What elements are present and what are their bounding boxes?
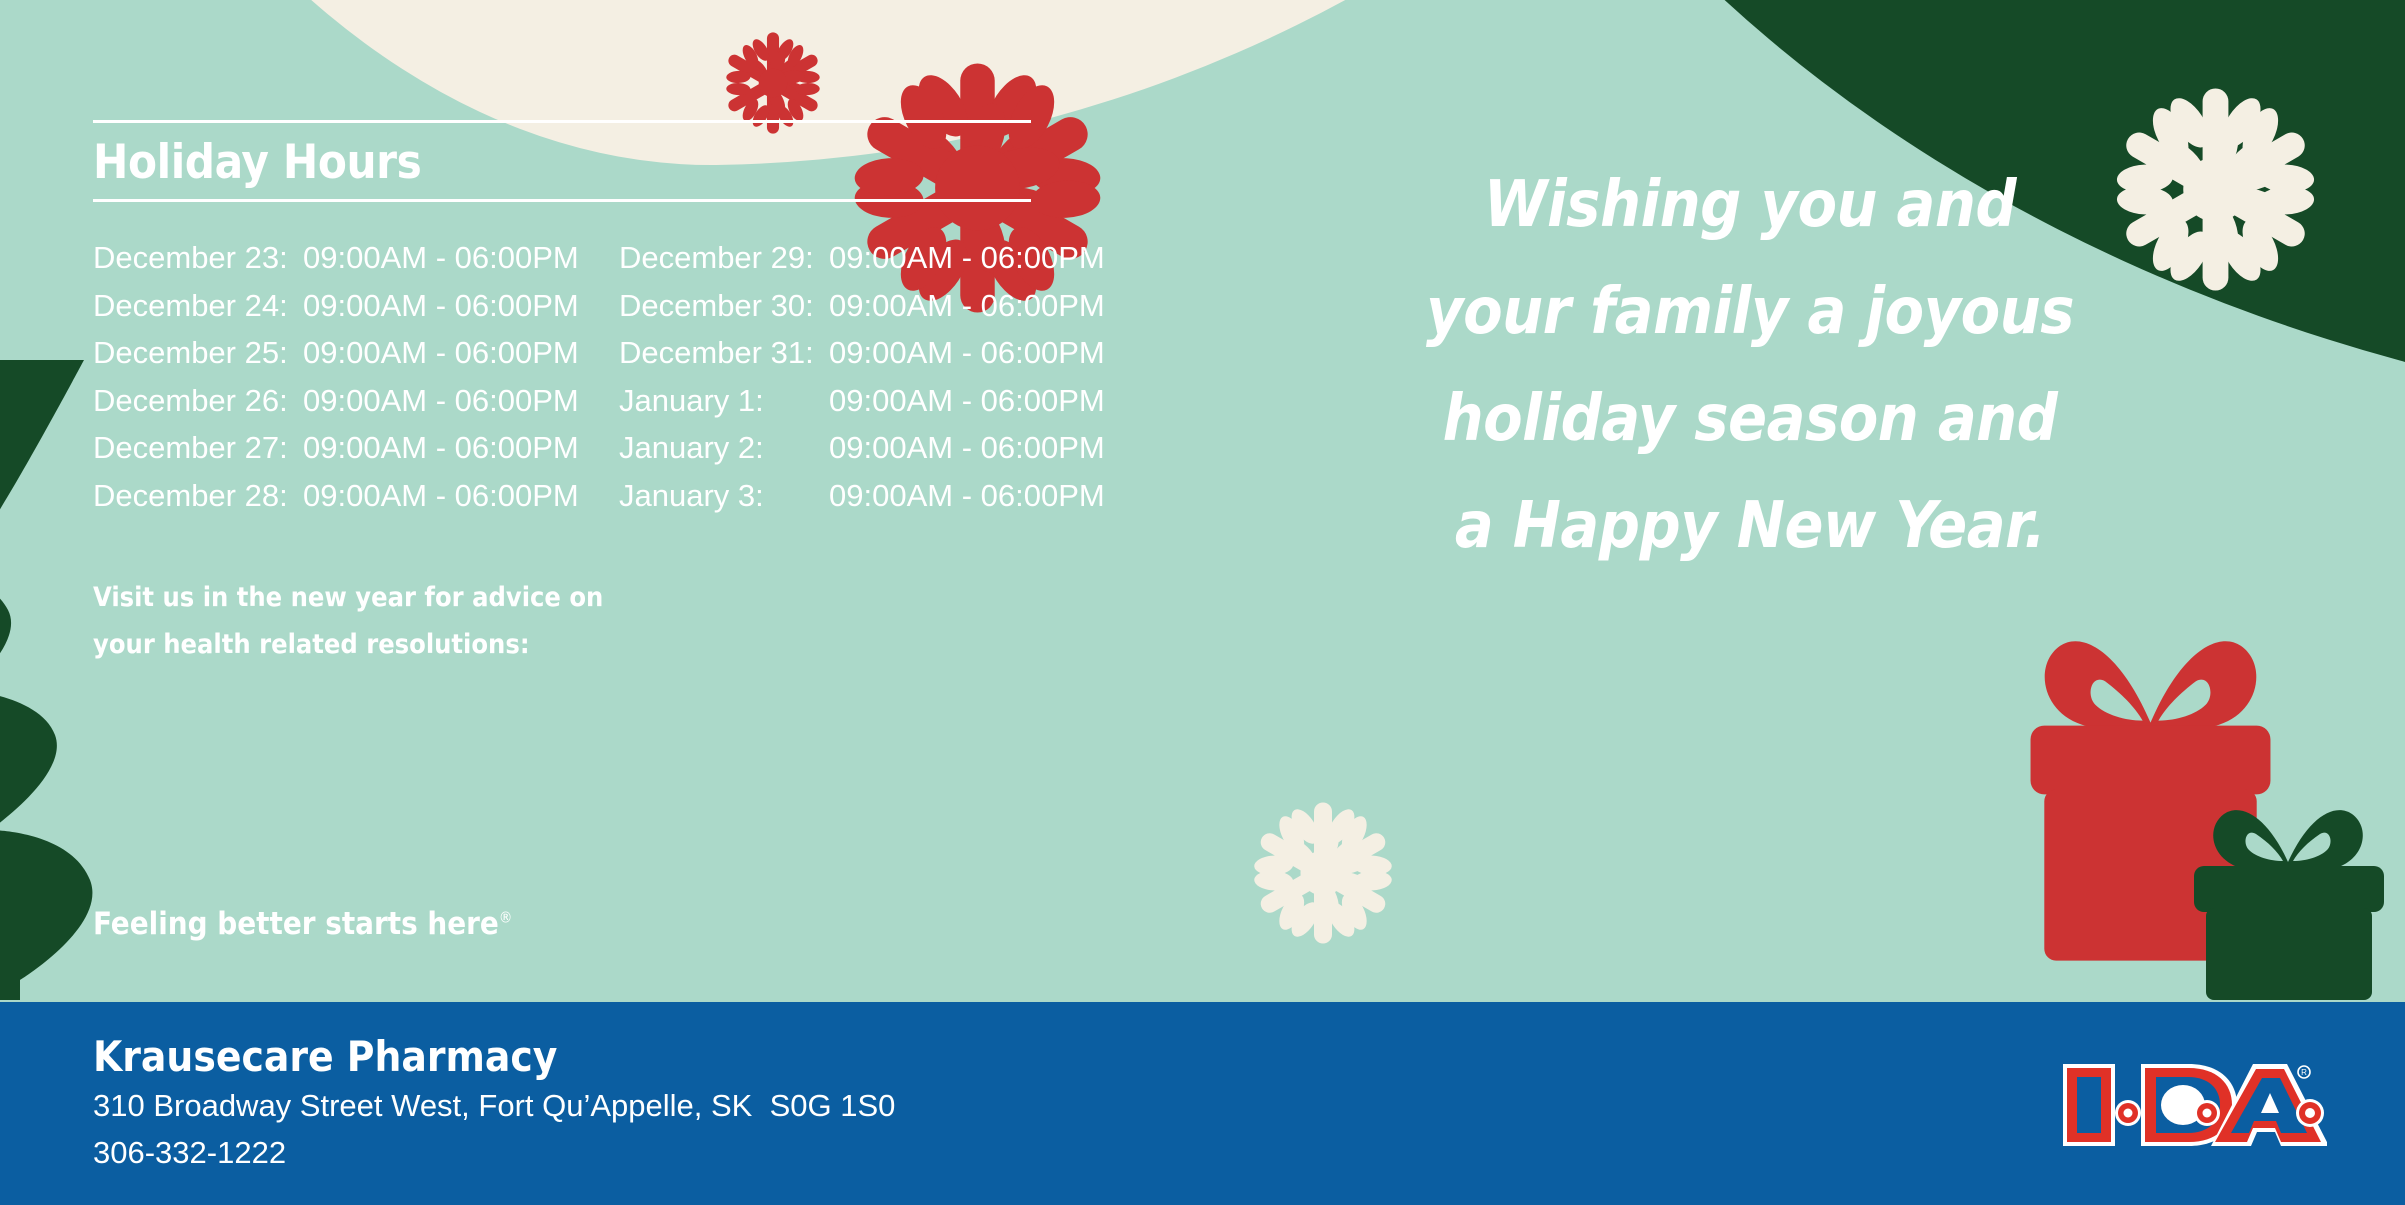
ida-logo: R <box>2057 1050 2327 1160</box>
greeting-message: Wishing you and your family a joyous hol… <box>1390 152 2110 580</box>
tagline-text: Feeling better starts here <box>93 906 499 942</box>
footer-bar: Krausecare Pharmacy 310 Broadway Street … <box>0 1002 2405 1205</box>
hours-row: December 30: 09:00AM - 06:00PM <box>619 282 1107 330</box>
greeting-line2: your family a joyous <box>1390 259 2110 366</box>
hours-day: December 27: <box>93 424 303 472</box>
tagline: Feeling better starts here® <box>93 906 512 942</box>
hours-day: December 26: <box>93 377 303 425</box>
hours-time: 09:00AM - 06:00PM <box>303 234 581 282</box>
hours-row: December 24: 09:00AM - 06:00PM <box>93 282 581 330</box>
hours-row: December 31: 09:00AM - 06:00PM <box>619 329 1107 377</box>
visit-note-line1: Visit us in the new year for advice on <box>93 574 733 621</box>
holiday-hours-block: Holiday Hours December 23: 09:00AM - 06:… <box>93 120 1193 519</box>
visit-note: Visit us in the new year for advice on y… <box>93 574 733 668</box>
hours-time: 09:00AM - 06:00PM <box>829 282 1107 330</box>
holiday-hours-banner: Holiday Hours December 23: 09:00AM - 06:… <box>0 0 2405 1205</box>
store-info: Krausecare Pharmacy 310 Broadway Street … <box>93 1032 895 1176</box>
store-name: Krausecare Pharmacy <box>93 1032 895 1082</box>
greeting-line4: a Happy New Year. <box>1390 473 2110 580</box>
svg-text:R: R <box>2301 1068 2307 1077</box>
hours-day: December 29: <box>619 234 829 282</box>
hours-day: December 25: <box>93 329 303 377</box>
hours-day: January 3: <box>619 472 829 520</box>
hours-day: December 24: <box>93 282 303 330</box>
hours-column-two: December 29: 09:00AM - 06:00PM December … <box>619 234 1107 519</box>
greeting-line3: holiday season and <box>1390 366 2110 473</box>
hours-row: December 25: 09:00AM - 06:00PM <box>93 329 581 377</box>
hours-row: December 23: 09:00AM - 06:00PM <box>93 234 581 282</box>
snowflake-icon <box>2108 82 2323 297</box>
hours-day: December 30: <box>619 282 829 330</box>
hours-time: 09:00AM - 06:00PM <box>303 424 581 472</box>
hours-row: January 2: 09:00AM - 06:00PM <box>619 424 1107 472</box>
greeting-line1: Wishing you and <box>1390 152 2110 259</box>
hours-row: December 27: 09:00AM - 06:00PM <box>93 424 581 472</box>
hours-time: 09:00AM - 06:00PM <box>303 377 581 425</box>
store-address: 310 Broadway Street West, Fort Qu’Appell… <box>93 1082 895 1129</box>
hours-row: December 28: 09:00AM - 06:00PM <box>93 472 581 520</box>
hours-time: 09:00AM - 06:00PM <box>829 377 1107 425</box>
hours-row: January 1: 09:00AM - 06:00PM <box>619 377 1107 425</box>
gift-box-icon <box>2182 800 2394 1000</box>
store-phone[interactable]: 306-332-1222 <box>93 1129 895 1176</box>
hours-time: 09:00AM - 06:00PM <box>829 472 1107 520</box>
hours-row: December 29: 09:00AM - 06:00PM <box>619 234 1107 282</box>
snowflake-icon <box>1248 798 1398 948</box>
hours-time: 09:00AM - 06:00PM <box>303 282 581 330</box>
hours-day: January 1: <box>619 377 829 425</box>
tagline-trademark: ® <box>499 909 513 927</box>
hours-grid: December 23: 09:00AM - 06:00PM December … <box>93 234 1193 519</box>
divider-bottom <box>93 199 1031 202</box>
hours-day: December 31: <box>619 329 829 377</box>
hours-column-one: December 23: 09:00AM - 06:00PM December … <box>93 234 581 519</box>
holiday-hours-title: Holiday Hours <box>93 123 1193 199</box>
hours-time: 09:00AM - 06:00PM <box>303 472 581 520</box>
hours-day: January 2: <box>619 424 829 472</box>
hours-day: December 28: <box>93 472 303 520</box>
hours-day: December 23: <box>93 234 303 282</box>
hours-time: 09:00AM - 06:00PM <box>829 424 1107 472</box>
visit-note-line2: your health related resolutions: <box>93 621 733 668</box>
hours-time: 09:00AM - 06:00PM <box>829 329 1107 377</box>
hours-time: 09:00AM - 06:00PM <box>829 234 1107 282</box>
hours-time: 09:00AM - 06:00PM <box>303 329 581 377</box>
hours-row: December 26: 09:00AM - 06:00PM <box>93 377 581 425</box>
hours-row: January 3: 09:00AM - 06:00PM <box>619 472 1107 520</box>
